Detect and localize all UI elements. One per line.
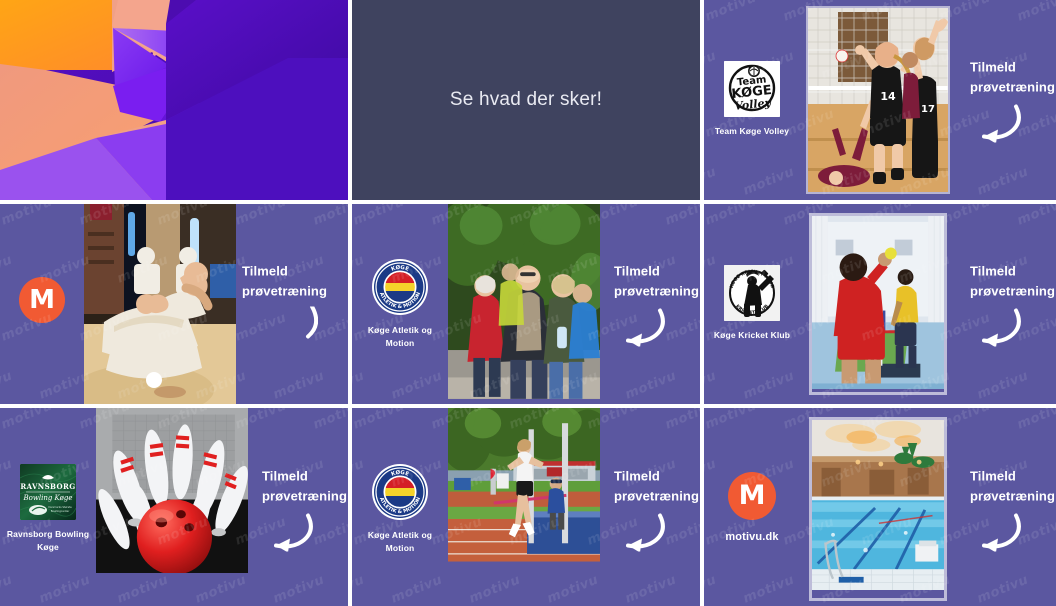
panel-motivu-dk[interactable]: motivumotivumotivumotivumotivumotivumoti… — [704, 408, 1056, 606]
club-identity: KØGE KRICKET KLUB KRICKET KLUB Køge Kric… — [704, 204, 800, 404]
panel-koege-atletik-walk[interactable]: motivumotivumotivumotivumotivumotivumoti… — [352, 204, 700, 404]
club-identity: KØGE ATLETIK & MOTION Køge Atletik og Mo… — [352, 204, 448, 404]
slide-headline: Se hvad der sker! — [450, 89, 602, 111]
photo-frame — [96, 408, 248, 606]
club-name-label: Køge Atletik og Motion — [356, 324, 444, 350]
club-card: KØGE ATLETIK & MOTION Køge Atletik og Mo… — [352, 408, 700, 606]
club-identity: RAVNSBORG Bowling Køge Danmarks Største … — [0, 408, 96, 606]
club-cta[interactable]: Tilmeld prøvetræning — [956, 0, 1056, 200]
motivu-m-logo: M — [19, 277, 65, 323]
panel-abstract-art[interactable] — [0, 0, 348, 200]
svg-text:RAVNSBORG: RAVNSBORG — [20, 482, 75, 491]
ravnsborg-bowling-logo: RAVNSBORG Bowling Køge Danmarks Største … — [20, 464, 76, 520]
motivu-m-logo: M — [728, 472, 776, 520]
club-photo — [800, 204, 956, 404]
cta-line-2: prøvetræning — [614, 281, 700, 301]
photo-frame — [448, 204, 600, 404]
cta-line-1: Tilmeld — [970, 262, 1056, 282]
cta-line-2: prøvetræning — [970, 486, 1056, 506]
club-name-label: motivu.dk — [725, 529, 778, 546]
team-koege-volley-logo: Team KØGE Volley — [724, 61, 780, 117]
cta-line-2: prøvetræning — [970, 281, 1056, 301]
club-identity: M — [0, 204, 84, 404]
club-card: Team KØGE Volley Team Køge Volley — [704, 0, 1056, 200]
panel-martial-arts[interactable]: motivumotivumotivumotivumotivumotivumoti… — [0, 204, 348, 404]
panel-text-slide[interactable]: Se hvad der sker! — [352, 0, 700, 200]
club-cta[interactable]: Tilmeld prøvetræning — [236, 204, 348, 404]
curved-arrow-icon — [970, 307, 1022, 347]
svg-text:14: 14 — [880, 90, 896, 103]
club-name-label: Køge Kricket Klub — [714, 329, 790, 342]
cta-line-1: Tilmeld — [970, 58, 1056, 78]
club-name-label: Team Køge Volley — [715, 125, 789, 138]
club-cta[interactable]: Tilmeld prøvetræning — [956, 204, 1056, 404]
club-cta[interactable]: Tilmeld prøvetræning — [600, 204, 700, 404]
club-cta[interactable]: Tilmeld prøvetræning — [600, 408, 700, 606]
club-card: KØGE ATLETIK & MOTION Køge Atletik og Mo… — [352, 204, 700, 404]
club-photo — [800, 408, 956, 606]
abstract-artwork — [0, 0, 348, 200]
cta-line-2: prøvetræning — [614, 486, 700, 506]
koege-kricket-klub-logo: KØGE KRICKET KLUB KRICKET KLUB — [724, 265, 780, 321]
club-card: KØGE KRICKET KLUB KRICKET KLUB Køge Kric… — [704, 204, 1056, 404]
svg-text:Bowlingcenter: Bowlingcenter — [51, 509, 70, 513]
club-card: M motivu.dk — [704, 408, 1056, 606]
cta-block[interactable]: Tilmeld prøvetræning — [242, 262, 348, 347]
svg-text:Bowling Køge: Bowling Køge — [23, 494, 73, 502]
cta-line-2: prøvetræning — [970, 77, 1056, 97]
club-photo — [448, 204, 600, 404]
curved-arrow-icon — [262, 512, 314, 552]
club-name-label: Ravnsborg Bowling Køge — [4, 528, 92, 554]
cta-block[interactable]: Tilmeld prøvetræning — [614, 262, 700, 347]
club-photo: 14 17 — [800, 0, 956, 200]
curved-arrow-icon — [266, 307, 318, 347]
cta-line-1: Tilmeld — [614, 262, 700, 282]
photo-frame: 14 17 — [808, 8, 948, 192]
club-name-label: Køge Atletik og Motion — [356, 529, 444, 555]
curved-arrow-icon — [970, 103, 1022, 143]
club-cta[interactable]: Tilmeld prøvetræning — [956, 408, 1056, 606]
club-identity: M motivu.dk — [704, 408, 800, 606]
club-identity: KØGE ATLETIK & MOTION Køge Atletik og Mo… — [352, 408, 448, 606]
cta-line-1: Tilmeld — [970, 467, 1056, 487]
cta-line-1: Tilmeld — [262, 467, 348, 487]
curved-arrow-icon — [614, 307, 666, 347]
panel-koege-kricket-klub[interactable]: motivumotivumotivumotivumotivumotivumoti… — [704, 204, 1056, 404]
cta-line-1: Tilmeld — [614, 467, 700, 487]
cta-line-2: prøvetræning — [262, 486, 348, 506]
panel-ravnsborg-bowling[interactable]: motivumotivumotivumotivumotivumotivumoti… — [0, 408, 348, 606]
club-photo — [84, 204, 236, 404]
cta-block[interactable]: Tilmeld prøvetræning — [970, 467, 1056, 552]
koege-atletik-og-motion-logo: KØGE ATLETIK & MOTION — [371, 463, 429, 521]
club-photo — [448, 408, 600, 606]
club-identity: Team KØGE Volley Team Køge Volley — [704, 0, 800, 200]
svg-text:17: 17 — [921, 104, 935, 115]
cta-line-1: Tilmeld — [242, 262, 348, 282]
koege-atletik-og-motion-logo: KØGE ATLETIK & MOTION — [371, 258, 429, 316]
curved-arrow-icon — [970, 512, 1022, 552]
club-photo — [96, 408, 248, 606]
panel-koege-atletik-highjump[interactable]: motivumotivumotivumotivumotivumotivumoti… — [352, 408, 700, 606]
curved-arrow-icon — [614, 512, 666, 552]
club-card: RAVNSBORG Bowling Køge Danmarks Største … — [0, 408, 348, 606]
club-card: M — [0, 204, 348, 404]
photo-frame — [812, 216, 944, 392]
photo-frame — [812, 420, 944, 598]
cta-block[interactable]: Tilmeld prøvetræning — [614, 467, 700, 552]
panel-team-koege-volley[interactable]: motivumotivumotivumotivumotivumotivumoti… — [704, 0, 1056, 200]
cta-block[interactable]: Tilmeld prøvetræning — [970, 58, 1056, 143]
cta-line-2: prøvetræning — [242, 281, 348, 301]
photo-frame — [84, 204, 236, 404]
signage-panel-grid: Se hvad der sker! motivumotivumotivumoti… — [0, 0, 1056, 606]
club-cta[interactable]: Tilmeld prøvetræning — [248, 408, 348, 606]
cta-block[interactable]: Tilmeld prøvetræning — [970, 262, 1056, 347]
text-slide-body: Se hvad der sker! — [352, 0, 700, 200]
svg-text:Danmarks Største: Danmarks Største — [48, 505, 72, 509]
photo-frame — [448, 408, 600, 606]
cta-block[interactable]: Tilmeld prøvetræning — [262, 467, 348, 552]
